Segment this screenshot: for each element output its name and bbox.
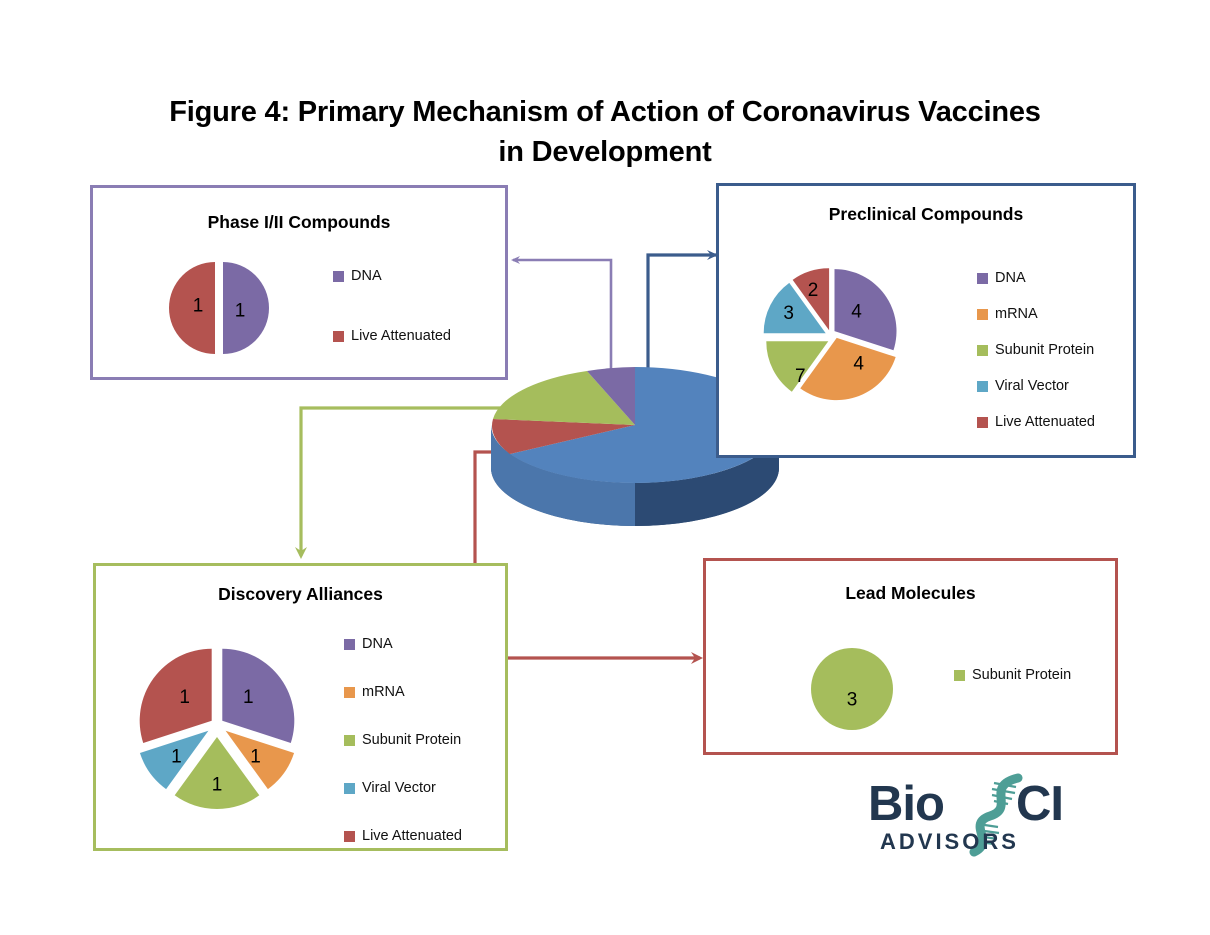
- slice-label-mrna: 1: [250, 746, 261, 767]
- slice-label-viral-vector: 1: [171, 746, 182, 767]
- slice-label-subunit-protein: 1: [212, 775, 223, 796]
- panel-title-discovery-alliances: Discovery Alliances: [96, 584, 505, 605]
- slice-label-subunit-protein: 7: [795, 366, 806, 387]
- logo-word-ci: CI: [1016, 777, 1063, 831]
- pie-chart-lead-molecules[interactable]: 3: [810, 647, 894, 731]
- legend-swatch-live-attenuated: [977, 417, 988, 428]
- legend-swatch-mrna: [344, 687, 355, 698]
- slice-label-dna: 4: [851, 302, 862, 323]
- slice-dna[interactable]: [835, 269, 897, 350]
- slice-group-live-attenuated[interactable]: 1: [140, 649, 212, 743]
- legend-swatch-dna: [344, 639, 355, 650]
- legend-label-live-attenuated: Live Attenuated: [362, 828, 462, 844]
- legend-label-subunit-protein: Subunit Protein: [995, 342, 1094, 358]
- slice-live-attenuated[interactable]: [140, 649, 212, 743]
- pie-chart-phase-1-2[interactable]: 1 1: [165, 258, 273, 358]
- legend-item[interactable]: DNA: [344, 636, 462, 652]
- panel-title-phase-1-2: Phase I/II Compounds: [93, 212, 505, 233]
- panel-lead-molecules[interactable]: Lead Molecules 3 Subunit Protein: [703, 558, 1118, 755]
- panel-discovery-alliances[interactable]: Discovery Alliances 1 1 1 1 1: [93, 563, 508, 851]
- legend-label-subunit-protein: Subunit Protein: [362, 732, 461, 748]
- legend-swatch-dna: [333, 271, 344, 282]
- legend-label-viral-vector: Viral Vector: [362, 780, 436, 796]
- legend-item[interactable]: Subunit Protein: [344, 732, 462, 748]
- slice-dna[interactable]: [223, 262, 269, 354]
- legend-swatch-dna: [977, 273, 988, 284]
- legend-swatch-live-attenuated: [333, 331, 344, 342]
- legend-label-live-attenuated: Live Attenuated: [351, 328, 451, 344]
- slice-label-dna: 1: [235, 301, 246, 322]
- pie-chart-discovery-alliances[interactable]: 1 1 1 1 1: [120, 628, 315, 828]
- slice-label-live-attenuated: 1: [179, 687, 190, 708]
- legend-item[interactable]: DNA: [333, 268, 451, 284]
- slice-label-live-attenuated: 1: [193, 296, 204, 317]
- logo-word-bio: Bio: [868, 777, 944, 831]
- legend-label-dna: DNA: [362, 636, 393, 652]
- legend-discovery-alliances: DNA mRNA Subunit Protein Viral Vector Li…: [344, 636, 462, 844]
- legend-item[interactable]: mRNA: [344, 684, 462, 700]
- legend-swatch-viral-vector: [344, 783, 355, 794]
- legend-label-dna: DNA: [351, 268, 382, 284]
- legend-item[interactable]: Live Attenuated: [333, 328, 451, 344]
- legend-swatch-viral-vector: [977, 381, 988, 392]
- slice-group-dna[interactable]: 4: [835, 269, 897, 350]
- legend-phase-1-2: DNA Live Attenuated: [333, 268, 451, 344]
- panel-title-preclinical: Preclinical Compounds: [719, 204, 1133, 225]
- slice-label-subunit-protein: 3: [847, 690, 858, 711]
- panel-phase-1-2[interactable]: Phase I/II Compounds 1 1 DNA Live Attenu…: [90, 185, 508, 380]
- panel-title-lead-molecules: Lead Molecules: [706, 583, 1115, 604]
- legend-swatch-mrna: [977, 309, 988, 320]
- legend-swatch-subunit-protein: [977, 345, 988, 356]
- slice-label-mrna: 4: [853, 353, 864, 374]
- legend-swatch-subunit-protein: [344, 735, 355, 746]
- figure-title-line-1: Figure 4: Primary Mechanism of Action of…: [60, 92, 1150, 132]
- legend-label-live-attenuated: Live Attenuated: [995, 414, 1095, 430]
- slice-dna[interactable]: [222, 649, 294, 743]
- legend-item[interactable]: Viral Vector: [977, 378, 1095, 394]
- legend-item[interactable]: Subunit Protein: [977, 342, 1095, 358]
- legend-item[interactable]: Subunit Protein: [954, 667, 1071, 683]
- slice-group-dna[interactable]: 1: [222, 649, 294, 743]
- legend-label-subunit-protein: Subunit Protein: [972, 667, 1071, 683]
- legend-label-mrna: mRNA: [362, 684, 405, 700]
- legend-item[interactable]: Live Attenuated: [977, 414, 1095, 430]
- legend-label-viral-vector: Viral Vector: [995, 378, 1069, 394]
- legend-item[interactable]: Viral Vector: [344, 780, 462, 796]
- legend-label-mrna: mRNA: [995, 306, 1038, 322]
- biosci-advisors-logo: Bio CI ADVISORS: [866, 770, 1116, 862]
- legend-item[interactable]: DNA: [977, 270, 1095, 286]
- pie-chart-preclinical[interactable]: 4 4 7 3 2: [741, 254, 921, 419]
- legend-swatch-subunit-protein: [954, 670, 965, 681]
- figure-title: Figure 4: Primary Mechanism of Action of…: [60, 92, 1150, 172]
- slice-label-viral-vector: 3: [783, 303, 794, 324]
- figure-title-line-2: in Development: [60, 132, 1150, 172]
- legend-swatch-live-attenuated: [344, 831, 355, 842]
- logo-tagline: ADVISORS: [880, 829, 1019, 854]
- panel-preclinical[interactable]: Preclinical Compounds 4 4 7 3 2: [716, 183, 1136, 458]
- slice-label-live-attenuated: 2: [808, 280, 819, 301]
- legend-item[interactable]: Live Attenuated: [344, 828, 462, 844]
- slice-label-dna: 1: [243, 687, 254, 708]
- legend-preclinical: DNA mRNA Subunit Protein Viral Vector Li…: [977, 270, 1095, 430]
- legend-item[interactable]: mRNA: [977, 306, 1095, 322]
- legend-lead-molecules: Subunit Protein: [954, 667, 1071, 683]
- legend-label-dna: DNA: [995, 270, 1026, 286]
